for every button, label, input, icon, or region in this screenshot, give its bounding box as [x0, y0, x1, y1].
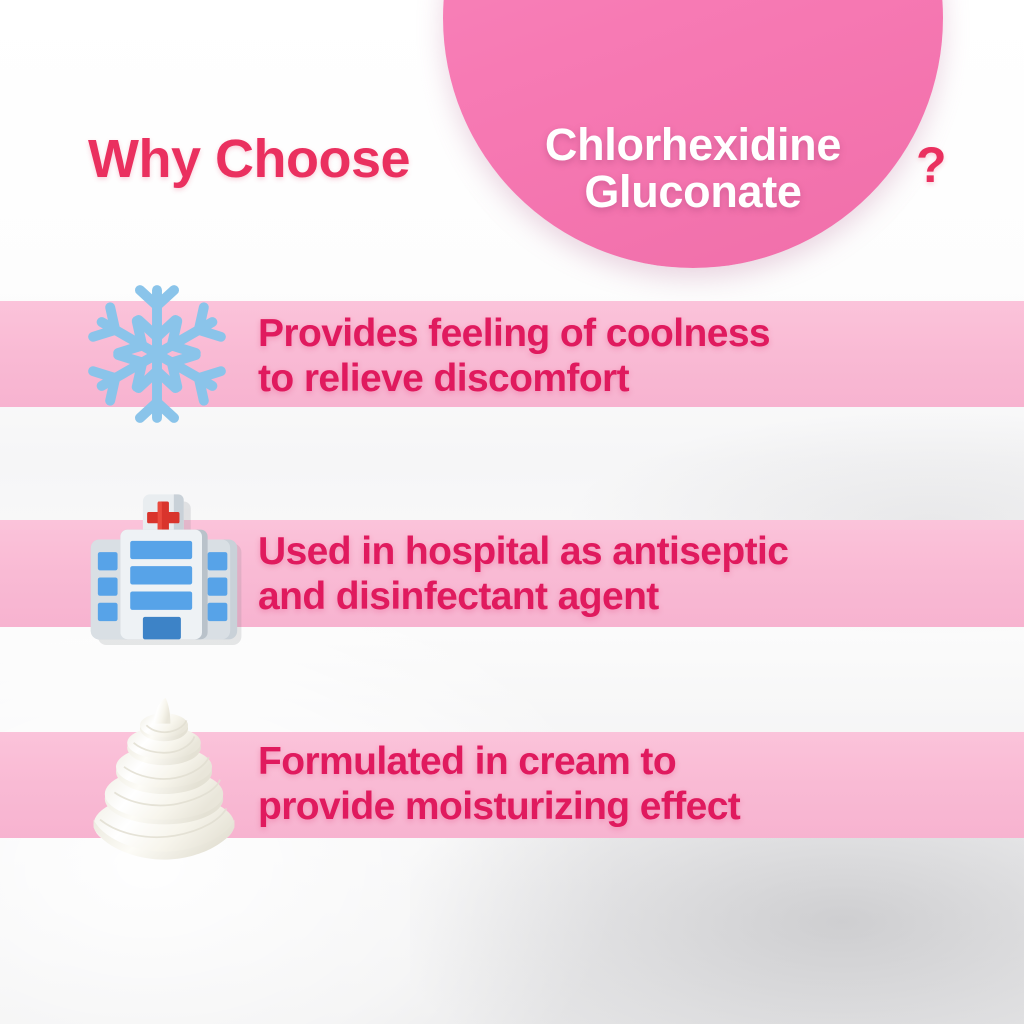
benefit-3-line-1: Formulated in cream to	[258, 739, 998, 784]
header: Chlorhexidine Gluconate Why Choose ?	[0, 0, 1024, 300]
infographic-canvas: Chlorhexidine Gluconate Why Choose ?	[0, 0, 1024, 1024]
page-title: Why Choose	[88, 128, 410, 190]
question-mark: ?	[916, 136, 947, 194]
snowflake-icon	[86, 283, 228, 425]
product-name-badge: Chlorhexidine Gluconate	[443, 0, 943, 268]
benefit-1-line-1: Provides feeling of coolness	[258, 311, 998, 356]
benefit-text-1: Provides feeling of coolness to relieve …	[258, 311, 998, 401]
benefit-3-line-2: provide moisturizing effect	[258, 784, 998, 829]
badge-label: Chlorhexidine Gluconate	[443, 121, 943, 216]
badge-line-1: Chlorhexidine	[469, 121, 917, 169]
whipped-cream-icon	[76, 698, 252, 858]
badge-line-2: Gluconate	[469, 168, 917, 216]
benefit-1-line-2: to relieve discomfort	[258, 356, 998, 401]
benefit-text-2: Used in hospital as antiseptic and disin…	[258, 529, 998, 619]
benefit-2-line-1: Used in hospital as antiseptic	[258, 529, 998, 574]
benefit-2-line-2: and disinfectant agent	[258, 574, 998, 619]
benefit-text-3: Formulated in cream to provide moisturiz…	[258, 739, 998, 829]
hospital-icon	[86, 493, 242, 645]
